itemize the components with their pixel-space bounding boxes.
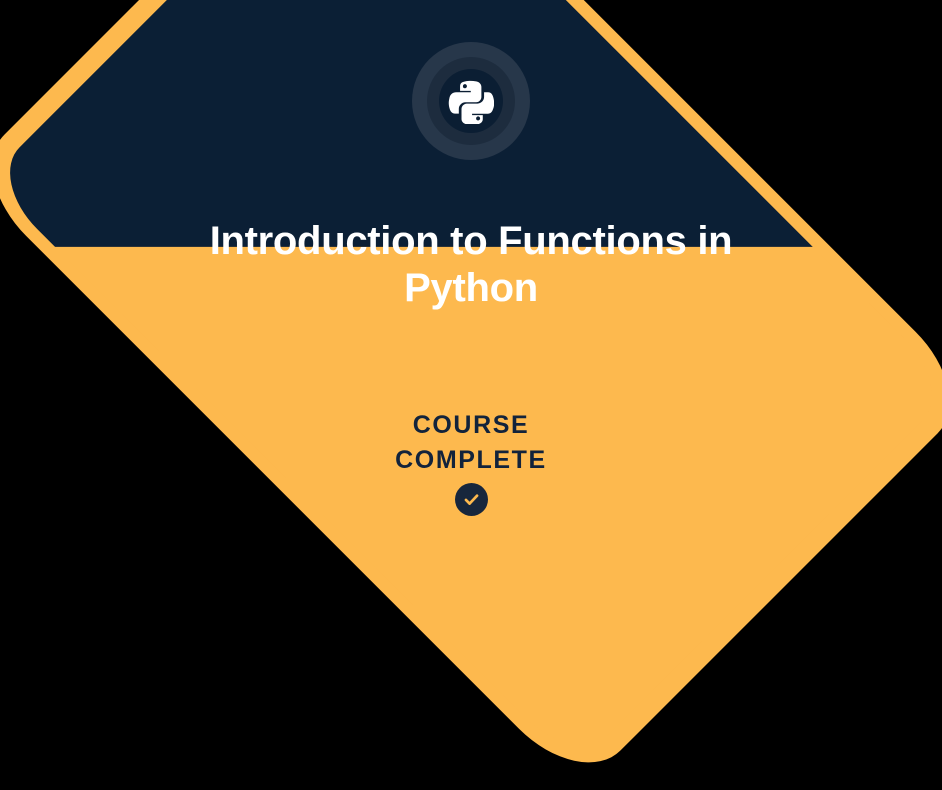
check-circle-icon [455, 483, 488, 516]
badge-status-line-2: COMPLETE [261, 443, 681, 478]
check-mark-icon [462, 490, 481, 509]
badge-title-line-2: Python [404, 266, 538, 310]
badge-content: Introduction to Functions in Python COUR… [0, 0, 942, 567]
badge-status-line-1: COURSE [261, 408, 681, 443]
badge-canvas: Introduction to Functions in Python COUR… [0, 0, 942, 567]
badge-title-line-1: Introduction to Functions in [210, 219, 733, 263]
badge-title: Introduction to Functions in Python [191, 218, 751, 312]
badge-status-label: COURSE COMPLETE [261, 408, 681, 477]
logo-medallion [412, 42, 530, 160]
python-logo-icon [448, 78, 494, 124]
